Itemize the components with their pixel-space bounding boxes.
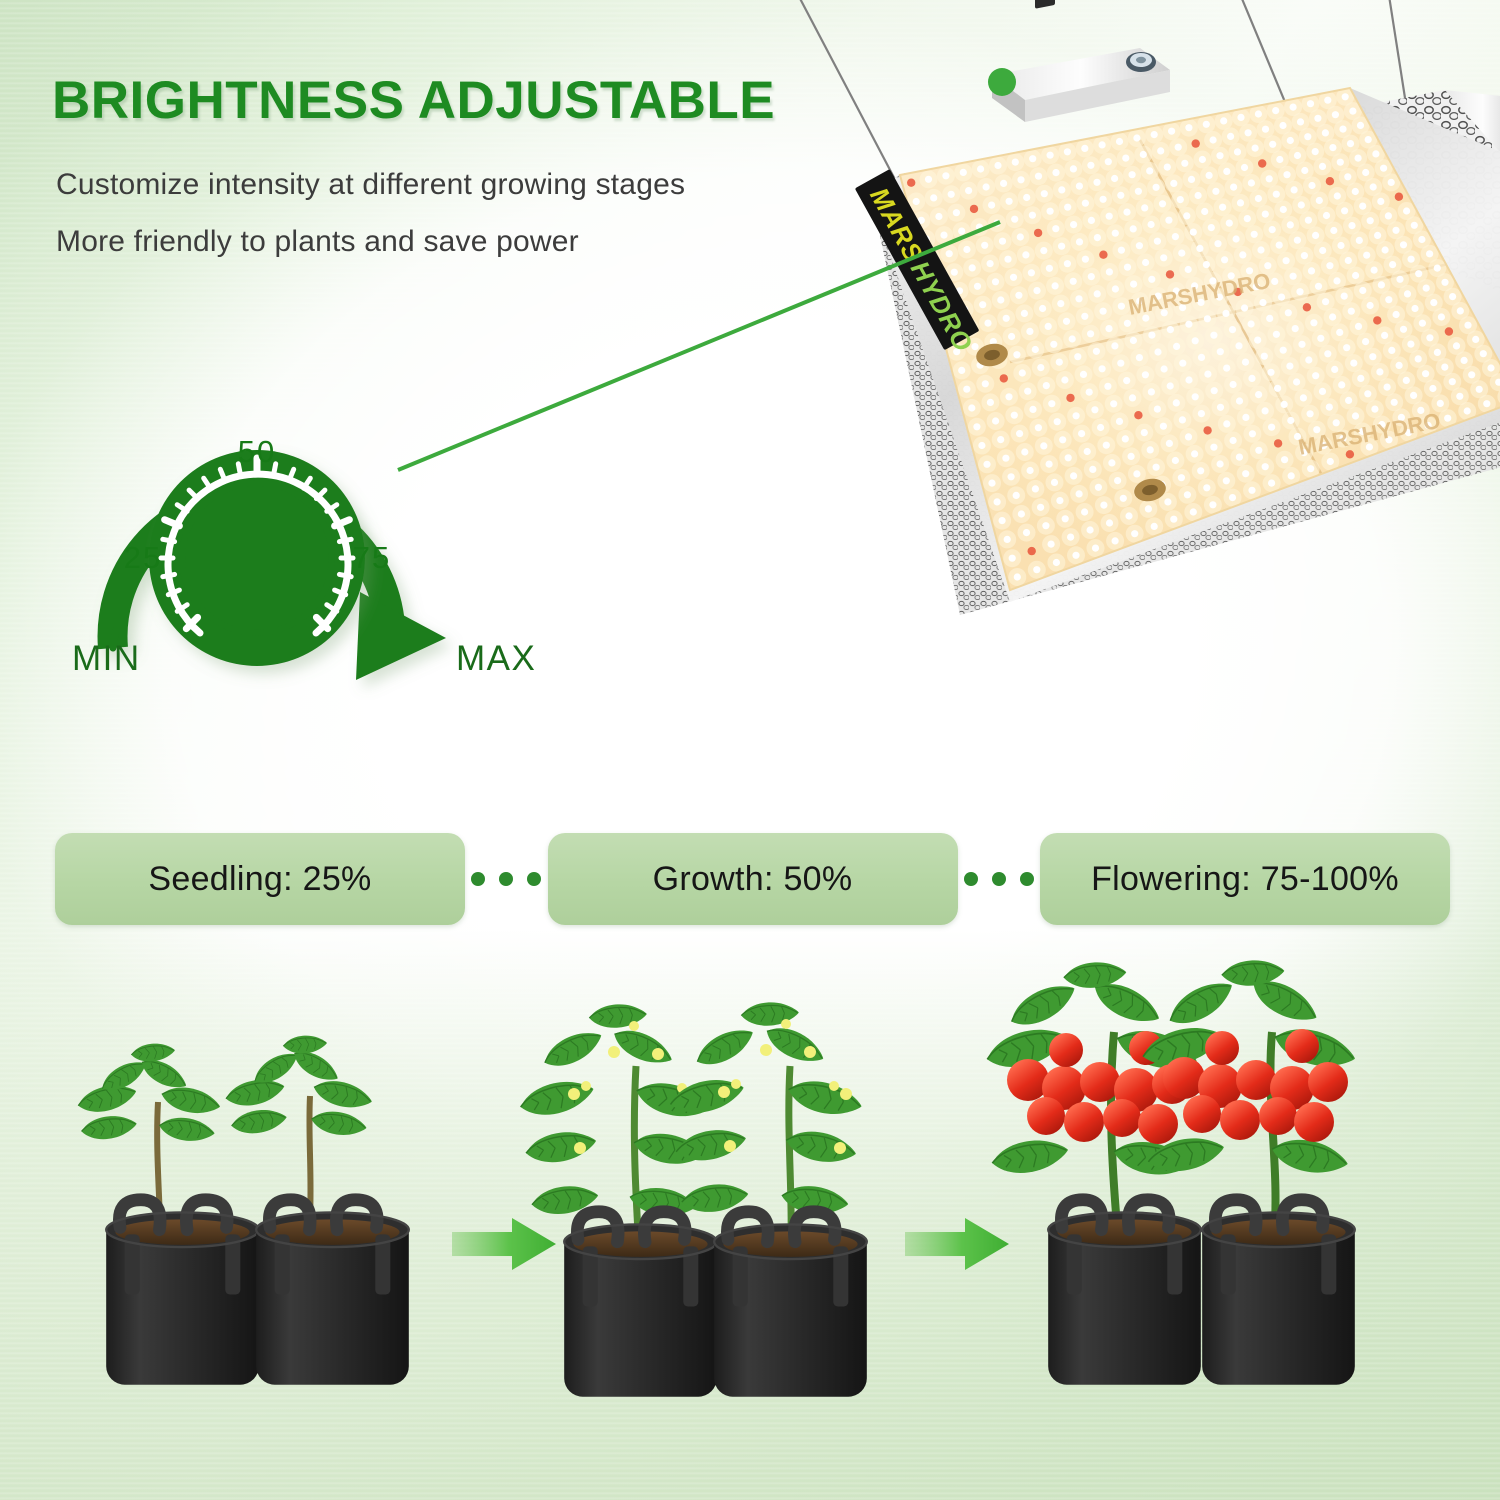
stage-pill-row: Seedling: 25% Growth: 50% Flowering: 75-… [55,833,1450,925]
callout-dot-icon [988,68,1016,96]
three-dots-separator-icon-2 [958,872,1041,886]
tomato-seedling-icon [75,1034,408,1385]
tomato-fruiting-plant-icon [983,960,1359,1385]
page-title: BRIGHTNESS ADJUSTABLE [52,70,775,131]
tomato-flowering-plant-icon [517,1001,867,1397]
dial-tick-50: 50 [238,434,276,469]
right-arrow-icon-2 [905,1218,1009,1270]
right-arrow-icon [452,1218,556,1270]
stage-pill-flowering[interactable]: Flowering: 75-100% [1040,833,1450,925]
dial-tick-25: 25 [124,540,162,575]
stage-illustration-growth [517,1001,867,1397]
rotary-dimmer-knob-icon [149,450,365,666]
stage-pill-seedling-label: Seedling: 25% [148,860,371,899]
three-dots-separator-icon [465,872,548,886]
dial-tick-75: 75 [353,540,391,575]
infographic-page: MARS HYDRO MARSHYDRO MARSHYDRO [0,0,1500,1500]
stage-illustration-seedling [75,1034,408,1385]
stage-pill-flowering-label: Flowering: 75-100% [1091,860,1399,899]
subtitle-line-1: Customize intensity at different growing… [56,168,685,202]
stage-pill-seedling[interactable]: Seedling: 25% [55,833,465,925]
dial-label-min: MIN [72,639,141,678]
stage-illustration-flowering [983,960,1359,1385]
stage-pill-growth-label: Growth: 50% [653,860,853,899]
subtitle-line-2: More friendly to plants and save power [56,225,579,259]
plant-growth-stages [0,960,1500,1460]
dimmer-control-box-icon [992,0,1170,122]
stage-pill-growth[interactable]: Growth: 50% [548,833,958,925]
brightness-dial-illustration: 50 25 75 MIN MAX [60,380,560,700]
dial-label-max: MAX [456,639,536,678]
